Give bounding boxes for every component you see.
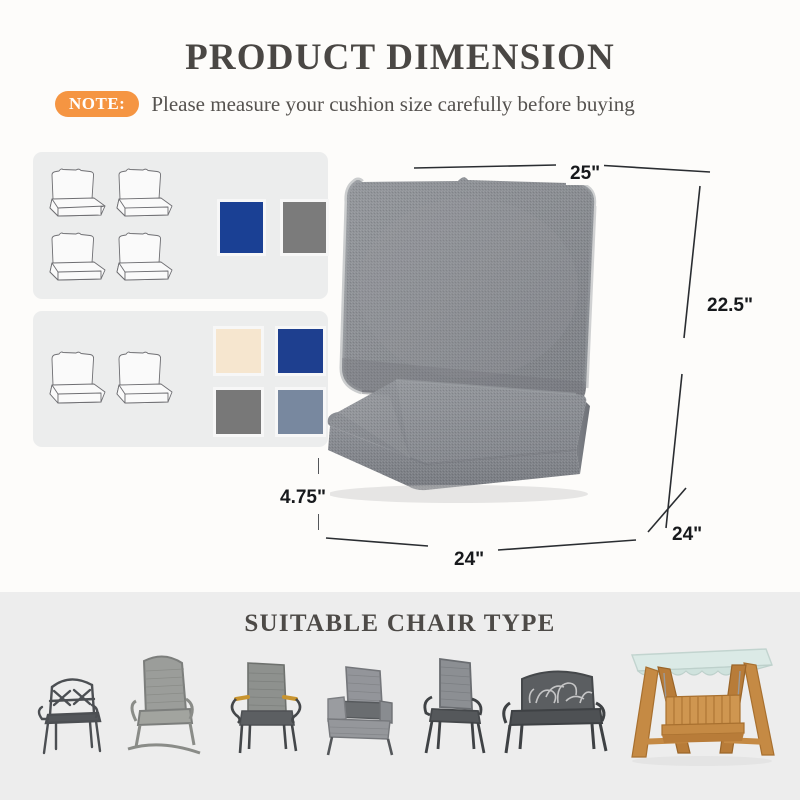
dimension-label-seat-depth: 24" [668, 524, 706, 546]
color-swatch-gray[interactable] [213, 387, 264, 437]
cushion-set-outline-icon [43, 343, 110, 415]
color-swatch-list [213, 326, 331, 437]
dimension-label-pillow-width: 25" [566, 163, 604, 185]
chair-cast-aluminum-lattice-chair [30, 657, 112, 762]
page-title: PRODUCT DIMENSION [0, 36, 800, 79]
chair-metal-scroll-bench [496, 661, 612, 762]
cushion-icon-grid [43, 343, 178, 415]
chair-wicker-armchair [318, 657, 400, 762]
variant-panel-2-piece [33, 311, 328, 447]
cushion-set-outline-icon [43, 226, 110, 290]
note-row: NOTE: Please measure your cushion size c… [55, 88, 755, 120]
product-dimension-infographic: PRODUCT DIMENSION NOTE: Please measure y… [0, 0, 800, 800]
variant-panel-4-piece [33, 152, 328, 299]
dimension-label-pillow-height: 22.5" [703, 295, 757, 317]
back-pillow-part [342, 177, 594, 406]
dimension-label-seat-width: 24" [450, 549, 488, 571]
cushion-set-outline-icon [110, 162, 177, 226]
chair-type-list [0, 640, 800, 762]
cushion-icon-grid [43, 162, 178, 290]
note-badge: NOTE: [55, 91, 139, 117]
dimension-section: PRODUCT DIMENSION NOTE: Please measure y… [0, 0, 800, 592]
cushion-set-outline-icon [110, 343, 177, 415]
dimension-label-seat-thickness: 4.75" [276, 487, 330, 509]
suitable-chair-section: SUITABLE CHAIR TYPE [0, 592, 800, 800]
chair-wooden-porch-swing [616, 631, 784, 772]
chair-mesh-dining-chair [412, 653, 492, 762]
cushion-set-outline-icon [43, 162, 110, 226]
cushion-product-image [318, 158, 718, 558]
seat-cushion-part [328, 380, 590, 503]
cushion-set-outline-icon [110, 226, 177, 290]
color-swatch-list [217, 199, 329, 256]
color-swatch-beige[interactable] [213, 326, 264, 376]
chair-wicker-chair-wood-arms [222, 653, 306, 762]
chair-wicker-rocking-chair [120, 649, 210, 762]
color-swatch-navy-blue[interactable] [217, 199, 266, 256]
note-text: Please measure your cushion size careful… [151, 92, 634, 117]
